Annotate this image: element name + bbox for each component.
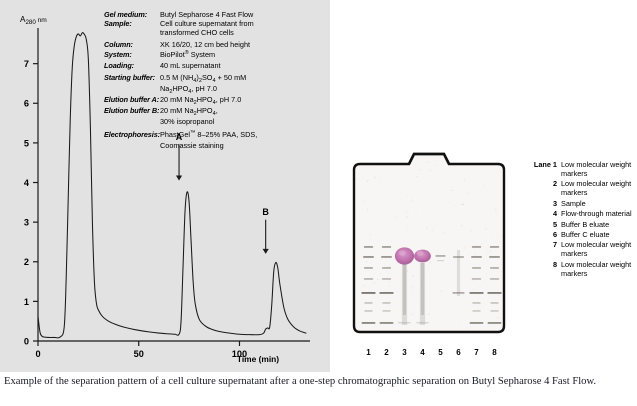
y-tick-label: 7 [24,59,29,69]
gel-band [470,322,484,324]
gel-speck [441,271,442,272]
gel-stained-spot-highlight [417,250,424,255]
gel-band [380,322,394,324]
gel-speck [486,273,487,274]
gel-speck [502,159,503,160]
gel-lane-number: 3 [399,348,411,357]
parameter-value-continued: 30% isopropanol [160,117,326,126]
gel-speck [366,261,368,263]
lane-legend-row: 8Low molecular weight markers [528,260,633,278]
gel-speck [389,285,390,286]
parameter-label: Loading: [104,61,160,70]
gel-speck [436,255,437,256]
gel-speck [434,165,435,166]
parameter-label: Electrophoresis: [104,130,160,141]
gel-speck [501,235,503,236]
gel-speck [491,234,493,235]
gel-speck [368,179,369,180]
gel-band [382,246,391,248]
gel-speck [369,235,371,236]
gel-speck [499,264,500,265]
gel-speck [428,266,429,267]
gel-speck [404,174,406,175]
gel-speck [487,252,488,253]
parameter-label: System: [104,50,160,61]
gel-speck [467,192,468,193]
parameter-label: Elution buffer B: [104,106,160,117]
gel-speck [412,287,414,288]
gel-speck [428,314,430,315]
gel-band [361,292,375,294]
gel-band [472,302,480,304]
lane-legend-value: Flow-through material [561,209,633,218]
gel-speck [396,292,398,293]
gel-speck [485,282,486,283]
gel-speck [361,289,362,290]
gel-speck [429,170,431,171]
gel-speck [397,178,398,179]
gel-speck [497,295,499,296]
gel-speck [411,314,413,315]
gel-speck [451,190,453,191]
gel-speck [366,168,367,169]
gel-band [437,260,444,261]
gel-speck [494,172,495,173]
gel-band [364,310,372,312]
gel-speck [391,240,392,241]
gel-band [487,292,501,294]
lane-legend-key: 7 [528,240,561,258]
parameter-label: Starting buffer: [104,73,160,84]
gel-lane-numbers: 12345678 [346,348,512,364]
elution-arrow-head [176,176,182,181]
gel-speck [388,265,390,266]
gel-speck [471,279,472,280]
parameter-row: Starting buffer:0.5 M (NH4)2SO4 + 50 mM [104,73,326,84]
gel-speck [396,156,397,157]
gel-speck [470,231,472,232]
gel-smear [457,250,460,296]
gel-band [382,310,390,312]
y-tick-label: 0 [24,336,29,346]
elution-arrow-label: B [262,207,269,217]
gel-speck [397,183,398,184]
gel-speck [464,248,465,249]
parameter-label: Column: [104,40,160,49]
gel-speck [369,292,371,293]
gel-speck [451,157,452,158]
gel-speck [480,287,481,288]
gel-speck [410,172,411,173]
gel-speck [367,181,368,182]
parameter-value: XK 16/20, 12 cm bed height [160,40,326,49]
gel-speck [459,323,461,324]
gel-speck [407,196,408,197]
gel-speck [421,285,422,286]
gel-speck [466,270,467,271]
parameter-value: 20 mM Na2HPO4, [160,106,326,117]
gel-band [472,278,481,280]
gel-band [382,302,390,304]
gel-speck [407,271,408,272]
gel-speck [354,211,355,212]
gel-speck [379,182,380,183]
gel-speck [495,213,496,214]
lane-legend-row: 4Flow-through material [528,209,633,218]
parameter-value: Butyl Sepharose 4 Fast Flow [160,10,326,19]
gel-band [472,310,480,312]
parameter-row: Elution buffer B:20 mM Na2HPO4, [104,106,326,117]
gel-speck [427,254,428,255]
gel-speck [426,236,427,237]
gel-speck [471,329,472,330]
lane-legend-key: 2 [528,179,561,197]
gel-band [488,322,502,324]
gel-speck [485,238,486,239]
gel-speck [384,264,385,265]
gel-speck [486,216,487,217]
lane-legend-value: Low molecular weight markers [561,260,633,278]
gel-speck [367,209,368,210]
gel-speck [478,234,479,235]
gel-speck [370,239,371,240]
gel-speck [459,290,461,291]
lane-legend-value: Low molecular weight markers [561,160,633,178]
gel-speck [497,317,499,318]
gel-speck [475,254,476,255]
gel-speck [413,301,414,302]
lane-legend-row: 5Buffer B eluate [528,220,633,229]
gel-speck [406,212,407,213]
y-axis-label-unit: nm [36,17,47,24]
y-axis-label-subscript: 280 [25,19,36,26]
gel-band [490,310,498,312]
gel-speck [388,251,389,252]
chromatogram-panel: 01234567 050100 AB A280 nm Time (min) Ge… [0,0,330,372]
gel-speck [452,316,453,317]
parameter-value: 0.5 M (NH4)2SO4 + 50 mM [160,73,326,84]
gel-lane-number: 2 [381,348,393,357]
gel-band [469,292,483,294]
gel-speck [397,264,398,265]
gel-speck [426,227,427,228]
gel-speck [485,228,486,229]
parameter-row: System:BioPilot® System [104,50,326,61]
gel-speck [500,202,501,203]
gel-lane-number: 5 [435,348,447,357]
lane-legend-row: 3Sample [528,199,633,208]
gel-speck [459,158,460,159]
gel-speck [494,296,495,297]
gel-band [471,256,482,258]
gel-speck [362,201,363,202]
gel-speck [374,282,375,284]
lane-legend-value: Buffer B eluate [561,220,633,229]
parameter-row: Elution buffer A:20 mM Na2HPO4, pH 7.0 [104,95,326,106]
gel-speck [410,182,411,183]
y-axis-label: A280 nm [20,15,47,26]
gel-speck [380,165,382,167]
gel-lane-number: 6 [453,348,465,357]
gel-speck [427,161,428,162]
gel-speck [416,176,417,177]
lane-legend-row: Lane 1Low molecular weight markers [528,160,633,178]
gel-speck [464,179,465,180]
lane-legend-key: 8 [528,260,561,278]
gel-stained-spot-highlight [399,250,406,255]
gel-speck [391,292,392,293]
elution-arrows: AB [176,132,270,254]
parameter-row: Electrophoresis:PhastGel™ 8–25% PAA, SDS… [104,130,326,141]
gel-speck [389,273,390,274]
gel-speck [489,251,491,252]
y-axis-ticks [33,64,38,341]
gel-speck [392,264,393,265]
lane-legend-value: Low molecular weight markers [561,240,633,258]
gel-speck [495,209,497,210]
gel-speck [356,179,357,180]
gel-speck [406,216,408,217]
lane-legend-key: 4 [528,209,561,218]
gel-speck [453,205,454,207]
gel-speck [397,321,399,322]
gel-speck [454,251,455,252]
gel-speck [378,179,380,180]
parameter-value-continued: Na2HPO4, pH 7.0 [160,84,326,95]
parameter-value: PhastGel™ 8–25% PAA, SDS, [160,130,326,141]
parameter-value-continued: Coomassie staining [160,141,326,150]
gel-speck [357,250,359,251]
parameter-row: Loading:40 mL supernatant [104,61,326,70]
gel-speck [377,279,379,280]
parameter-label: Gel medium: [104,10,160,19]
gel-speck [378,156,380,157]
gel-lane-number: 7 [471,348,483,357]
gel-speck [454,318,455,319]
gel-speck [483,185,484,186]
gel-speck [412,275,414,276]
gel-speck [481,244,483,245]
gel-speck [440,290,442,291]
parameter-value-continued: transformed CHO cells [160,28,326,37]
gel-slab [354,154,504,332]
gel-band [490,302,498,304]
gel-speck [444,177,445,178]
gel-speck [420,322,421,323]
gel-speck [415,210,417,211]
gel-speck [430,162,431,163]
lane-legend-row: 7Low molecular weight markers [528,240,633,258]
method-parameters-table: Gel medium:Butyl Sepharose 4 Fast FlowSa… [104,10,326,150]
lane-legend-value: Sample [561,199,633,208]
gel-speck [381,302,382,303]
parameter-label: Elution buffer A: [104,95,160,106]
y-tick-label: 1 [24,297,29,307]
gel-speck [373,294,375,295]
gel-speck [388,301,389,302]
gel-band [364,278,373,280]
lane-legend-value: Buffer C eluate [561,230,633,239]
gel-band [362,322,376,324]
gel-band [364,246,373,248]
gel-speck [384,248,385,249]
gel-speck [400,198,401,199]
x-axis-ticks [38,341,239,346]
lane-legend-key: 5 [528,220,561,229]
gel-speck [372,159,374,160]
sds-page-gel-figure: 12345678 [346,150,512,370]
gel-band [382,267,391,269]
x-axis-tick-labels: 050100 [35,349,247,359]
gel-speck [432,229,433,230]
parameter-label: Sample: [104,19,160,28]
lane-legend-key: 6 [528,230,561,239]
parameter-row: Gel medium:Butyl Sepharose 4 Fast Flow [104,10,326,19]
gel-band [399,322,411,324]
gel-speck [391,226,392,227]
gel-band [381,256,392,258]
gel-band [489,256,500,258]
gel-band [417,322,429,324]
gel-speck [378,173,379,174]
y-tick-label: 2 [24,257,29,267]
gel-speck [424,249,426,250]
gel-speck [422,307,423,308]
gel-speck [490,185,491,186]
gel-speck [411,294,412,295]
gel-speck [441,216,443,217]
x-tick-label: 0 [35,349,40,359]
gel-speck [419,169,421,170]
lane-legend-value: Low molecular weight markers [561,179,633,197]
gel-image [346,150,512,350]
gel-speck [394,323,395,324]
gel-speck [376,325,377,326]
gel-band [364,302,372,304]
x-tick-label: 50 [134,349,144,359]
lane-legend-row: 2Low molecular weight markers [528,179,633,197]
gel-speck [449,203,450,204]
lane-legend-key: 3 [528,199,561,208]
gel-speck [405,257,406,258]
gel-stained-spot [395,247,414,264]
gel-band [472,267,481,269]
y-tick-label: 3 [24,218,29,228]
gel-band [472,246,481,248]
gel-band [490,267,499,269]
lane-legend-row: 6Buffer C eluate [528,230,633,239]
gel-speck [387,292,389,293]
gel-speck [390,282,392,283]
gel-speck [417,264,418,265]
gel-band [364,267,373,269]
lane-legend: Lane 1Low molecular weight markers2Low m… [528,160,633,279]
gel-band [490,278,499,280]
gel-speck [486,255,487,256]
gel-lane-number: 4 [417,348,429,357]
gel-speck [395,216,396,217]
gel-band [490,246,499,248]
gel-band [382,278,391,280]
gel-speck [380,273,381,274]
gel-speck [367,164,368,165]
gel-speck [473,289,475,290]
gel-speck [358,243,359,244]
elution-arrow-head [263,249,269,254]
lane-legend-key: Lane 1 [528,160,561,178]
parameter-value: 40 mL supernatant [160,61,326,70]
gel-speck [374,177,376,178]
gel-speck [363,285,364,286]
gel-speck [407,226,409,227]
gel-speck [370,227,371,228]
gel-speck [355,219,356,220]
gel-smear [403,263,406,315]
gel-speck [501,271,502,272]
y-axis-tick-labels: 01234567 [24,59,30,346]
parameter-row: Sample:Cell culture supernatant from [104,19,326,28]
gel-speck [427,165,428,166]
y-tick-label: 4 [24,178,30,188]
parameter-value: BioPilot® System [160,50,326,61]
x-axis-label: Time (min) [237,354,279,364]
gel-lane-number: 8 [489,348,501,357]
gel-speck [436,160,437,161]
parameter-row: Column:XK 16/20, 12 cm bed height [104,40,326,49]
gel-band [453,292,465,294]
gel-speck [478,286,480,287]
y-tick-label: 6 [24,99,29,109]
gel-speck [461,204,463,205]
gel-speck [499,157,500,158]
y-tick-label: 5 [24,138,29,148]
gel-speck [411,199,412,200]
parameter-value: 20 mM Na2HPO4, pH 7.0 [160,95,326,106]
gel-speck [394,259,395,260]
gel-lane-number: 1 [363,348,375,357]
figure-caption: Example of the separation pattern of a c… [4,376,634,389]
gel-speck [376,213,377,214]
gel-band [363,256,374,258]
gel-speck [443,233,444,234]
gel-speck [400,263,401,264]
parameter-value: Cell culture supernatant from [160,19,326,28]
gel-speck [461,225,463,226]
